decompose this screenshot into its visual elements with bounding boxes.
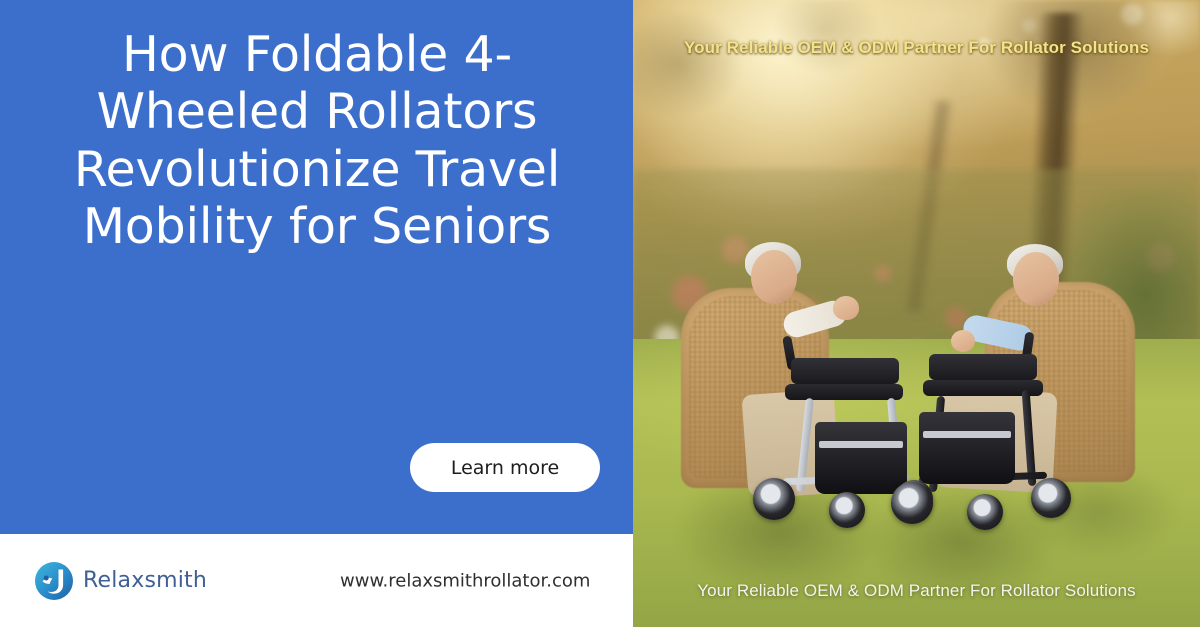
blog-promo-banner: How Foldable 4-Wheeled Rollators Revolut… xyxy=(0,0,1200,627)
woman-head xyxy=(751,250,797,304)
rollator-right-wheel xyxy=(967,494,1003,530)
footer-bar: Relaxsmith www.relaxsmithrollator.com xyxy=(0,534,633,627)
rollator-right-bag xyxy=(919,412,1015,484)
brand-name: Relaxsmith xyxy=(83,568,207,593)
rollator-right-wheel xyxy=(1031,478,1071,518)
woman-hand xyxy=(833,296,859,320)
rollator-left-backrest xyxy=(791,358,899,384)
hero-photo: Your Reliable OEM & ODM Partner For Roll… xyxy=(633,0,1200,627)
tagline-bottom: Your Reliable OEM & ODM Partner For Roll… xyxy=(633,581,1200,601)
relaxsmith-circle-swoosh-icon xyxy=(34,561,74,601)
garden-scene xyxy=(633,0,1200,627)
headline-panel: How Foldable 4-Wheeled Rollators Revolut… xyxy=(0,0,633,534)
rollator-left-wheel xyxy=(753,478,795,520)
man-hand xyxy=(951,330,975,352)
rollator-right-wheel xyxy=(891,482,933,524)
rollator-left-bag xyxy=(815,422,907,494)
man-head xyxy=(1013,252,1059,306)
rollator-left-wheel xyxy=(829,492,865,528)
rollator-right-backrest xyxy=(929,354,1037,380)
rollator-left-seat xyxy=(785,384,903,400)
website-url[interactable]: www.relaxsmithrollator.com xyxy=(340,570,590,591)
brand-lockup[interactable]: Relaxsmith xyxy=(34,561,207,601)
tagline-top: Your Reliable OEM & ODM Partner For Roll… xyxy=(633,38,1200,58)
page-title: How Foldable 4-Wheeled Rollators Revolut… xyxy=(52,26,582,255)
learn-more-button[interactable]: Learn more xyxy=(410,443,600,492)
